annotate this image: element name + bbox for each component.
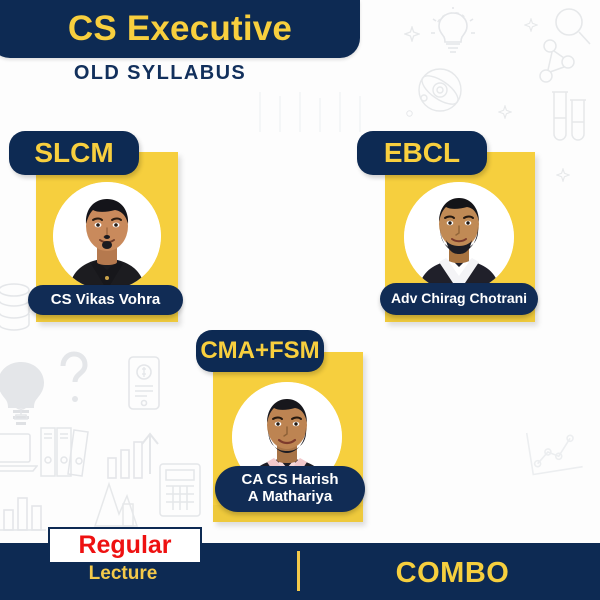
- sparkle-icon: [524, 18, 538, 32]
- laptop-icon: [0, 430, 38, 474]
- lightbulb-icon: [427, 7, 479, 57]
- subject-badge-ebcl: EBCL: [357, 131, 487, 175]
- footer-divider: [297, 551, 300, 591]
- molecule-icon: [532, 34, 584, 92]
- binders-icon: [38, 418, 94, 480]
- trophy-icon: [4, 392, 38, 424]
- smartphone-money-icon: [127, 355, 161, 411]
- lecture-label: Lecture: [48, 563, 198, 585]
- page-title: CS Executive: [58, 9, 292, 49]
- calculator-icon: [158, 462, 202, 518]
- bar-chart-icon: [0, 480, 50, 536]
- header-banner: CS Executive: [0, 0, 360, 58]
- subject-badge-cmafsm: CMA+FSM: [196, 330, 324, 372]
- subtitle: OLD SYLLABUS: [0, 62, 320, 85]
- magnifier-icon: [548, 2, 594, 50]
- atom-icon: [412, 62, 468, 118]
- question-mark-icon: [55, 350, 93, 406]
- faculty-photo-slcm: [53, 182, 161, 290]
- faculty-name-pill-slcm: CS Vikas Vohra: [28, 285, 183, 315]
- sparkle-icon: [436, 6, 466, 26]
- faculty-name-pill-cmafsm: CA CS Harish A Mathariya: [215, 466, 365, 512]
- sparkle-icon: [404, 108, 415, 119]
- promo-poster: CS Executive OLD SYLLABUS: [0, 0, 600, 600]
- test-tube-icon: [542, 88, 592, 150]
- line-chart-icon: [520, 421, 588, 484]
- growth-arrow-icon: [104, 424, 170, 482]
- subject-badge-slcm: SLCM: [9, 131, 139, 175]
- faculty-name-pill-ebcl: Adv Chirag Chotrani: [380, 283, 538, 315]
- sparkle-icon: [250, 92, 370, 132]
- sparkle-icon: [556, 168, 570, 182]
- faculty-photo-ebcl: [404, 182, 514, 292]
- regular-badge: Regular: [48, 527, 202, 564]
- sparkle-icon: [404, 26, 420, 42]
- sparkle-icon: [498, 105, 512, 119]
- footer-bar: Regular Lecture COMBO: [0, 543, 600, 600]
- column-chart-icon: [85, 470, 149, 532]
- combo-label: COMBO: [320, 557, 585, 590]
- lightbulb-icon: [0, 358, 54, 430]
